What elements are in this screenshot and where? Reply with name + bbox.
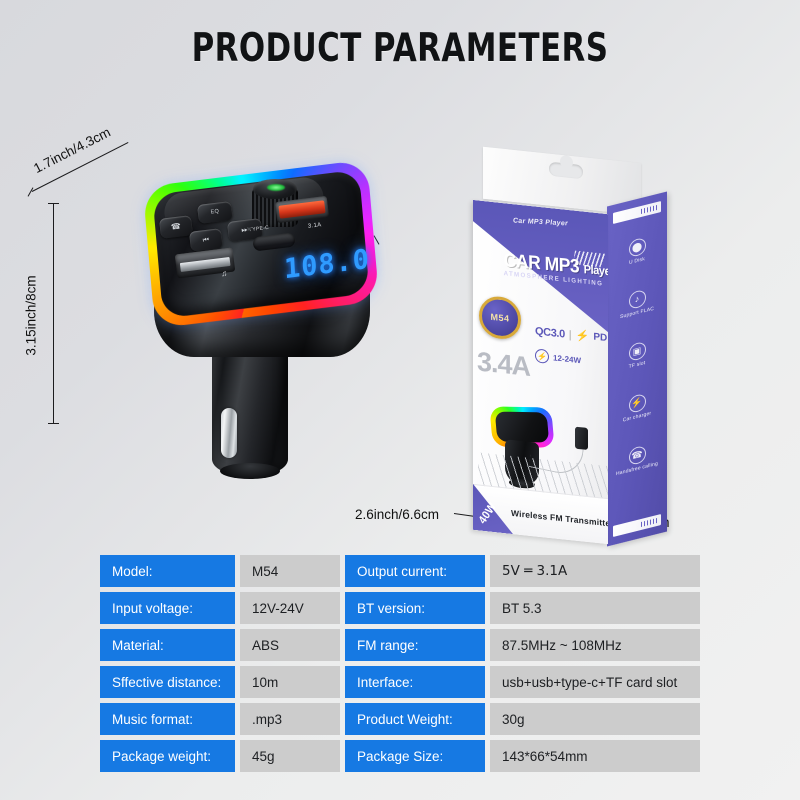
spec-key: Model: — [100, 555, 235, 587]
spec-value: BT 5.3 — [490, 592, 700, 624]
table-row: Material: ABS FM range: 87.5MHz ~ 108MHz — [100, 629, 700, 661]
spec-value: 10m — [240, 666, 340, 698]
spec-key: Interface: — [345, 666, 485, 698]
dim-label-package-width: 2.6inch/6.6cm — [355, 507, 439, 522]
usb-standard-port-label: ♫ — [220, 269, 227, 279]
spec-value: M54 — [240, 555, 340, 587]
product-device-image: EQ ☎ ⏮ ⏭ 3.1A ♫ TYPE-C 108.0 — [148, 173, 393, 483]
table-row: Sffective distance: 10m Interface: usb+u… — [100, 666, 700, 698]
car-charger-feature: ⚡ Car charger — [607, 388, 667, 428]
spec-value: 87.5MHz ~ 108MHz — [490, 629, 700, 661]
spec-value: 12V-24V — [240, 592, 340, 624]
microphone-hole — [247, 227, 251, 231]
table-row: Input voltage: 12V-24V BT version: BT 5.… — [100, 592, 700, 624]
package-box-image: ⬤ U Disk ♪ Support FLAC ▣ TF slot ⚡ Car … — [455, 155, 670, 575]
spec-key: Package weight: — [100, 740, 235, 772]
tf-slot-icon: ▣ — [629, 341, 646, 362]
side-band-bottom — [613, 514, 661, 537]
support-flac-icon: ♪ — [629, 289, 646, 310]
wattage-label: 12-24W — [553, 353, 581, 365]
hero-illustration: 1.7inch/4.3cm 1.7inch/4.3cm 3.15inch/8cm… — [0, 95, 800, 545]
spec-key: Material: — [100, 629, 235, 661]
charging-standards-row: QC3.0 | ⚡ PD — [535, 324, 607, 345]
tf-slot-feature: ▣ TF slot — [607, 336, 667, 376]
table-row: Package weight: 45g Package Size: 143*66… — [100, 740, 700, 772]
dim-label-product-top-left: 1.7inch/4.3cm — [31, 124, 113, 176]
usb-qc-port-insert — [278, 200, 325, 219]
spec-value: usb+usb+type-c+TF card slot — [490, 666, 700, 698]
page-title: PRODUCT PARAMETERS — [48, 26, 752, 71]
dim-tick-top-left — [28, 187, 34, 196]
knob-led-indicator — [267, 184, 285, 191]
dim-tick-left-top — [48, 203, 59, 204]
spec-key: Music format: — [100, 703, 235, 735]
wattage-bolt-icon: ⚡ — [535, 348, 549, 363]
handsfree-calling-feature: ☎ Handsfree calling — [607, 440, 667, 480]
spec-table: Model: M54 Output current: 5V ═ 3.1A Inp… — [100, 555, 700, 772]
wattage-row: ⚡ 12-24W — [535, 348, 581, 367]
dim-line-left-vertical — [53, 203, 54, 423]
spec-value: 143*66*54mm — [490, 740, 700, 772]
dim-label-product-height: 3.15inch/8cm — [24, 275, 39, 355]
spec-value: 5V ═ 3.1A — [490, 555, 700, 587]
table-row: Music format: .mp3 Product Weight: 30g — [100, 703, 700, 735]
dim-tick-left-bottom — [48, 423, 59, 424]
call-button[interactable]: ☎ — [159, 215, 193, 239]
spec-key: Input voltage: — [100, 592, 235, 624]
spec-key: Package Size: — [345, 740, 485, 772]
box-photo-cable-tip — [575, 427, 588, 450]
badge-separator: | — [569, 328, 572, 340]
spec-key: Sffective distance: — [100, 666, 235, 698]
amps-callout: 3.4A — [477, 346, 530, 383]
u-disk-icon: ⬤ — [629, 237, 646, 258]
bottom-caption: Wireless FM Transmitter — [511, 508, 608, 529]
car-charger-icon: ⚡ — [629, 393, 646, 414]
table-row: Model: M54 Output current: 5V ═ 3.1A — [100, 555, 700, 587]
spec-value: 45g — [240, 740, 340, 772]
knob-top — [253, 179, 297, 199]
pd-badge: PD — [593, 332, 607, 344]
spec-key: FM range: — [345, 629, 485, 661]
support-flac-feature: ♪ Support FLAC — [607, 284, 667, 324]
spec-key: BT version: — [345, 592, 485, 624]
device-plug-contact — [221, 408, 237, 458]
spec-value: .mp3 — [240, 703, 340, 735]
hang-hole — [549, 162, 583, 180]
spec-key: Output current: — [345, 555, 485, 587]
u-disk-feature: ⬤ U Disk — [607, 232, 667, 272]
box-title-sub: Player — [584, 262, 608, 279]
side-band-top — [613, 201, 661, 224]
model-badge: M54 — [479, 295, 521, 341]
spec-key: Product Weight: — [345, 703, 485, 735]
bolt-icon: ⚡ — [576, 329, 590, 343]
spec-value: ABS — [240, 629, 340, 661]
box-side-panel: ⬤ U Disk ♪ Support FLAC ▣ TF slot ⚡ Car … — [607, 192, 667, 547]
spec-value: 30g — [490, 703, 700, 735]
phone-icon: ☎ — [629, 445, 646, 466]
qc30-badge: QC3.0 — [535, 325, 565, 340]
box-front-panel: Car MP3 Player CAR MP3 Player ATMOSPHERE… — [473, 200, 608, 544]
